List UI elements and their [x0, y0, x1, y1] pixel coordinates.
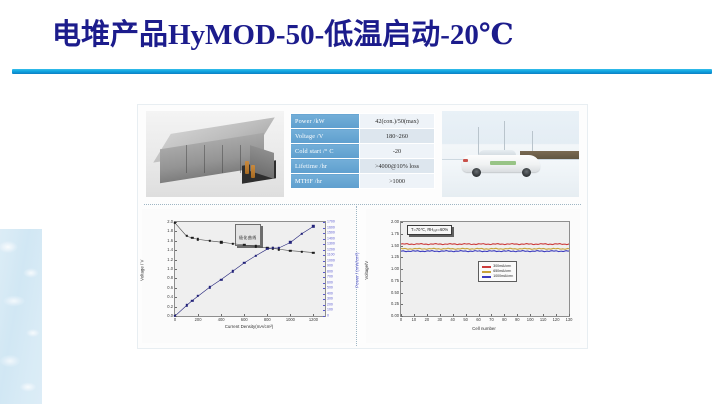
left-chart-data-point	[289, 249, 291, 251]
table-row: MTHF /hr >1000	[291, 174, 435, 189]
left-chart-data-point	[197, 295, 199, 297]
spec-label: Power /kW	[291, 114, 360, 129]
stack-rib	[204, 145, 205, 173]
left-chart-y2-tick-label: 600	[327, 281, 333, 285]
car-decal	[490, 161, 516, 165]
table-row: Lifetime /hr >4000@10% loss	[291, 159, 435, 174]
left-chart-series-lines	[175, 222, 325, 316]
left-chart-y2-tick-label: 1500	[327, 231, 335, 235]
left-chart-y2-tick-label: 200	[327, 303, 333, 307]
left-chart-data-point	[185, 304, 187, 306]
left-chart-y2-tick-label: 900	[327, 264, 333, 268]
cold-start-vehicle-photo	[442, 111, 579, 197]
left-chart-plot-area: 极化曲线 0.00.20.40.60.81.01.21.41.61.82.001…	[174, 221, 326, 317]
right-chart-y-tick-label: 1.00	[391, 267, 399, 271]
stack-connector-port	[245, 161, 249, 174]
left-chart-x-axis-title: Current Density(mA/cm²)	[225, 325, 274, 329]
left-chart-data-point	[301, 250, 303, 252]
left-chart-y-tick-label: 0.4	[167, 295, 173, 299]
left-chart-data-point	[191, 299, 193, 301]
table-row: Cold start /° C -20	[291, 144, 435, 159]
title-block: 电堆产品HyMOD-50-低温启动-20℃	[0, 16, 720, 54]
left-chart-data-point	[301, 232, 303, 234]
spec-value: >4000@10% loss	[360, 159, 435, 174]
spec-value: 42(con.)/50(max)	[360, 114, 435, 129]
decorative-texture-strip	[0, 229, 42, 404]
left-chart-y2-tick-label: 1000	[327, 259, 335, 263]
content-panel: Power /kW 42(con.)/50(max) Voltage /V 18…	[137, 104, 588, 349]
right-chart-y-tick-label: 1.25	[391, 255, 399, 259]
right-chart-x-tick-label: 20	[425, 318, 430, 322]
left-chart-y-tick-label: 0.8	[167, 276, 173, 280]
left-chart-y2-tick-label: 800	[327, 270, 333, 274]
left-chart-y-tick-label: 1.6	[167, 239, 173, 243]
right-chart-y-tick-label: 1.75	[391, 232, 399, 236]
charts-row: Voltage / V Power / (mW/cm²) Current Den…	[138, 205, 587, 347]
left-chart-y-tick-label: 1.0	[167, 267, 173, 271]
left-chart-data-point	[220, 241, 222, 243]
left-chart-data-point	[266, 248, 268, 250]
left-chart-y2-tick-label: 1200	[327, 248, 335, 252]
left-chart-data-point	[174, 222, 176, 224]
left-chart-data-point	[255, 245, 257, 247]
spec-value: -20	[360, 144, 435, 159]
right-chart-y-tick-label: 0.00	[391, 314, 399, 318]
left-chart-data-point	[220, 278, 222, 280]
left-chart-data-point	[312, 251, 314, 253]
cell-voltage-distribution-chart: Voltage/V Cell number T=70℃, RHₒᵤₜ=60% 3…	[366, 209, 580, 343]
right-chart-x-tick-label: 70	[489, 318, 494, 322]
left-chart-y-tick-label: 1.8	[167, 229, 173, 233]
top-row: Power /kW 42(con.)/50(max) Voltage /V 18…	[138, 105, 587, 203]
left-chart-y-tick-label: 2.0	[167, 220, 173, 224]
spec-label: Cold start /° C	[291, 144, 360, 159]
stack-rib	[222, 145, 223, 173]
left-chart-x-tick-label: 800	[264, 318, 271, 322]
left-chart-data-point	[231, 242, 233, 244]
spec-value: 180~260	[360, 129, 435, 144]
left-chart-y-tick-label: 0.2	[167, 305, 173, 309]
left-chart-data-point	[289, 241, 291, 243]
left-chart-y2-tickmark	[323, 316, 325, 317]
left-chart-x-tick-label: 600	[241, 318, 248, 322]
stack-product-photo	[146, 111, 284, 197]
right-chart-x-tickmark	[569, 314, 570, 316]
left-chart-data-point	[312, 225, 314, 227]
left-chart-data-point	[197, 238, 199, 240]
left-chart-y2-tick-label: 1700	[327, 220, 335, 224]
left-chart-y-tick-label: 1.4	[167, 248, 173, 252]
stack-connector-port	[251, 165, 255, 178]
left-chart-x-tick-label: 400	[218, 318, 225, 322]
left-chart-data-point	[174, 315, 176, 317]
left-chart-y2-tick-label: 0	[327, 314, 329, 318]
table-row: Voltage /V 180~260	[291, 129, 435, 144]
left-chart-y-tick-label: 0.6	[167, 286, 173, 290]
right-chart-x-axis-title: Cell number	[472, 327, 496, 331]
car-wheel	[472, 168, 481, 177]
stack-rib	[240, 145, 241, 173]
left-chart-data-point	[208, 286, 210, 288]
spec-label: MTHF /hr	[291, 174, 360, 189]
right-chart-y-tick-label: 2.00	[391, 220, 399, 224]
stack-rib	[186, 145, 187, 173]
left-chart-x-tick-label: 1000	[286, 318, 295, 322]
right-chart-x-tick-label: 60	[476, 318, 481, 322]
right-chart-y-tick-label: 0.75	[391, 279, 399, 283]
left-chart-y2-axis-title: Power / (mW/cm²)	[355, 253, 359, 288]
left-chart-data-point	[191, 237, 193, 239]
right-chart-y-tick-label: 0.50	[391, 290, 399, 294]
car-wheel	[522, 168, 531, 177]
title-underline-rule	[12, 69, 712, 74]
left-chart-x-tick-label: 0	[174, 318, 176, 322]
left-chart-y-axis-title: Voltage / V	[140, 260, 144, 281]
left-chart-data-point	[272, 247, 274, 249]
left-chart-data-point	[185, 235, 187, 237]
left-chart-data-point	[278, 247, 280, 249]
page-title: 电堆产品HyMOD-50-低温启动-20℃	[0, 16, 720, 54]
car-taillight	[463, 159, 468, 162]
spec-label: Voltage /V	[291, 129, 360, 144]
right-chart-x-tick-label: 40	[450, 318, 455, 322]
left-chart-y2-tick-label: 1600	[327, 226, 335, 230]
right-chart-x-tick-label: 10	[412, 318, 417, 322]
left-chart-y-tick-label: 0.0	[167, 314, 173, 318]
left-chart-x-tick-label: 200	[195, 318, 202, 322]
right-chart-y-tick-label: 1.50	[391, 243, 399, 247]
right-chart-series-lines	[401, 222, 569, 316]
right-chart-x-tick-label: 100	[527, 318, 534, 322]
right-chart-x-tick-label: 130	[566, 318, 573, 322]
left-chart-x-tick-label: 1200	[309, 318, 318, 322]
left-chart-data-point	[243, 262, 245, 264]
left-chart-y2-tick-label: 100	[327, 309, 333, 313]
left-chart-data-point	[208, 240, 210, 242]
left-chart-y2-tick-label: 1300	[327, 242, 335, 246]
right-chart-x-tick-label: 80	[502, 318, 507, 322]
left-chart-data-point	[243, 244, 245, 246]
left-chart-y2-tick-label: 1100	[327, 253, 335, 257]
right-chart-x-tick-label: 120	[553, 318, 560, 322]
left-chart-y2-tick-label: 400	[327, 292, 333, 296]
right-chart-plot-area: T=70℃, RHₒᵤₜ=60% 300mA/cm²650mA/cm²1000m…	[400, 221, 570, 317]
specification-table: Power /kW 42(con.)/50(max) Voltage /V 18…	[290, 113, 435, 189]
left-chart-data-point	[255, 255, 257, 257]
spec-label: Lifetime /hr	[291, 159, 360, 174]
table-row: Power /kW 42(con.)/50(max)	[291, 114, 435, 129]
spec-value: >1000	[360, 174, 435, 189]
left-chart-y2-tick-label: 700	[327, 276, 333, 280]
polarization-curve-chart: Voltage / V Power / (mW/cm²) Current Den…	[142, 209, 356, 343]
right-chart-x-tick-label: 30	[437, 318, 442, 322]
right-chart-x-tick-label: 90	[515, 318, 520, 322]
left-chart-y-tick-label: 1.2	[167, 258, 173, 262]
left-chart-y2-tick-label: 500	[327, 287, 333, 291]
left-chart-data-point	[231, 270, 233, 272]
right-chart-y-tick-label: 0.25	[391, 302, 399, 306]
right-chart-y-axis-title: Voltage/V	[365, 261, 369, 280]
right-chart-x-tick-label: 50	[463, 318, 468, 322]
right-chart-x-tick-label: 110	[540, 318, 547, 322]
right-chart-x-tick-label: 0	[400, 318, 402, 322]
left-chart-y2-tick-label: 300	[327, 298, 333, 302]
left-chart-y2-tick-label: 1400	[327, 237, 335, 241]
